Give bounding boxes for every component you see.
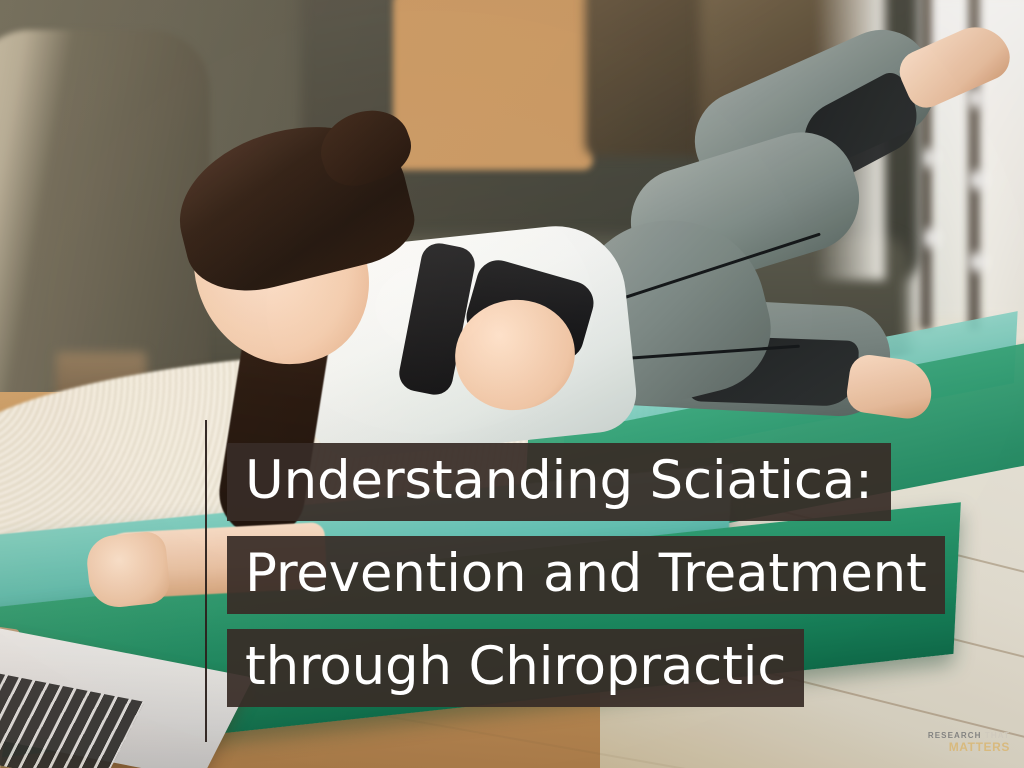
hero-banner: Understanding Sciatica: Prevention and T… xyxy=(0,0,1024,768)
watermark-line-1: RESEARCH THAT xyxy=(928,732,1010,740)
title-line-3: through Chiropractic xyxy=(227,629,804,707)
watermark-line-2: MATTERS xyxy=(928,741,1010,754)
title-accent-rule xyxy=(205,420,207,742)
watermark-logo: RESEARCH THAT MATTERS xyxy=(928,732,1010,754)
title-line-1: Understanding Sciatica: xyxy=(227,443,891,521)
page-title: Understanding Sciatica: Prevention and T… xyxy=(227,443,945,722)
watermark-word-that: THAT xyxy=(985,731,1010,740)
title-line-2: Prevention and Treatment xyxy=(227,536,945,614)
watermark-word-research: RESEARCH xyxy=(928,731,982,740)
